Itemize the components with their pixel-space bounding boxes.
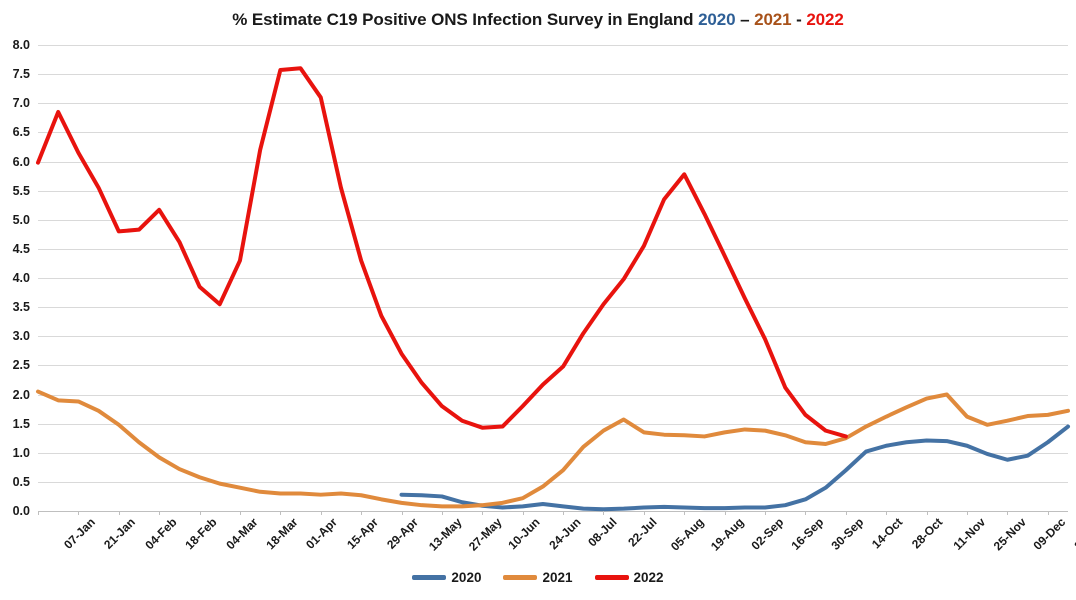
x-axis-tick-label: 25-Nov — [991, 515, 1029, 553]
x-axis-tick-mark — [523, 511, 524, 515]
x-axis-tick-label: 13-May — [425, 515, 464, 554]
y-axis-tick-label: 2.5 — [0, 358, 30, 372]
y-axis-tick-label: 0.5 — [0, 475, 30, 489]
x-axis-tick-label: 18-Mar — [263, 515, 300, 552]
x-axis-tick-mark — [361, 511, 362, 515]
x-axis-tick-mark — [765, 511, 766, 515]
x-axis-tick-label: 23-Dec — [1071, 515, 1076, 553]
x-axis-tick-mark — [321, 511, 322, 515]
y-axis-tick-label: 3.0 — [0, 329, 30, 343]
x-axis-tick-mark — [967, 511, 968, 515]
x-axis-tick-label: 16-Sep — [789, 515, 827, 553]
x-axis-tick-label: 24-Jun — [546, 515, 583, 552]
series-line-2022 — [38, 68, 846, 436]
y-axis-tick-label: 6.5 — [0, 125, 30, 139]
x-axis-tick-label: 30-Sep — [829, 515, 867, 553]
x-axis-tick-mark — [442, 511, 443, 515]
x-axis-tick-label: 09-Dec — [1031, 515, 1069, 553]
x-axis-tick-label: 11-Nov — [950, 515, 988, 553]
legend-swatch-icon — [595, 575, 629, 580]
x-axis-tick-mark — [200, 511, 201, 515]
x-axis-tick-mark — [644, 511, 645, 515]
legend-label: 2022 — [634, 570, 664, 585]
x-axis-tick-mark — [402, 511, 403, 515]
legend-item-2021[interactable]: 2021 — [503, 570, 572, 585]
x-axis-tick-label: 27-May — [466, 515, 505, 554]
x-axis-tick-mark — [1007, 511, 1008, 515]
y-axis-tick-label: 4.5 — [0, 242, 30, 256]
x-axis-tick-label: 04-Feb — [142, 515, 179, 552]
chart-root: % Estimate C19 Positive ONS Infection Su… — [0, 0, 1076, 600]
x-axis-tick-label: 07-Jan — [61, 515, 98, 552]
x-axis-tick-label: 05-Aug — [668, 515, 707, 554]
y-axis-tick-label: 5.5 — [0, 184, 30, 198]
x-axis-labels: 07-Jan21-Jan04-Feb18-Feb04-Mar18-Mar01-A… — [38, 511, 1068, 571]
legend-swatch-icon — [412, 575, 446, 580]
series-lines — [38, 45, 1068, 511]
x-axis-tick-mark — [725, 511, 726, 515]
x-axis-tick-label: 02-Sep — [748, 515, 786, 553]
y-axis-tick-label: 5.0 — [0, 213, 30, 227]
x-axis-tick-mark — [846, 511, 847, 515]
series-line-2020 — [402, 427, 1068, 510]
x-axis-tick-label: 10-Jun — [506, 515, 543, 552]
x-axis-tick-label: 04-Mar — [223, 515, 260, 552]
y-axis-tick-label: 1.5 — [0, 417, 30, 431]
legend-item-2020[interactable]: 2020 — [412, 570, 481, 585]
x-axis-tick-mark — [78, 511, 79, 515]
x-axis-tick-mark — [1048, 511, 1049, 515]
x-axis-tick-label: 14-Oct — [869, 515, 905, 551]
x-axis-tick-label: 18-Feb — [183, 515, 220, 552]
x-axis-tick-mark — [119, 511, 120, 515]
x-axis-tick-mark — [159, 511, 160, 515]
legend-item-2022[interactable]: 2022 — [595, 570, 664, 585]
title-year-2020: 2020 — [698, 10, 735, 29]
chart-legend: 202020212022 — [0, 570, 1076, 585]
x-axis-tick-label: 01-Apr — [303, 515, 340, 552]
y-axis-tick-label: 7.5 — [0, 67, 30, 81]
x-axis-tick-mark — [886, 511, 887, 515]
x-axis-tick-mark — [280, 511, 281, 515]
x-axis-tick-mark — [603, 511, 604, 515]
x-axis-tick-mark — [482, 511, 483, 515]
x-axis-tick-mark — [805, 511, 806, 515]
legend-label: 2021 — [542, 570, 572, 585]
x-axis-tick-label: 21-Jan — [102, 515, 139, 552]
title-year-2021: 2021 — [754, 10, 791, 29]
title-separator-2: - — [792, 10, 807, 29]
y-axis-tick-label: 8.0 — [0, 38, 30, 52]
x-axis-tick-mark — [38, 511, 39, 515]
chart-title: % Estimate C19 Positive ONS Infection Su… — [0, 10, 1076, 30]
legend-swatch-icon — [503, 575, 537, 580]
x-axis-tick-label: 15-Apr — [344, 515, 381, 552]
x-axis-tick-label: 08-Jul — [585, 515, 619, 549]
x-axis-tick-label: 28-Oct — [909, 515, 945, 551]
y-axis-tick-label: 7.0 — [0, 96, 30, 110]
title-separator-1: – — [735, 10, 754, 29]
y-axis-tick-label: 4.0 — [0, 271, 30, 285]
title-year-2022: 2022 — [806, 10, 843, 29]
x-axis-tick-label: 29-Apr — [384, 515, 421, 552]
title-main-text: % Estimate C19 Positive ONS Infection Su… — [232, 10, 698, 29]
y-axis-tick-label: 1.0 — [0, 446, 30, 460]
x-axis-tick-label: 19-Aug — [708, 515, 747, 554]
x-axis-tick-mark — [240, 511, 241, 515]
series-line-2021 — [38, 392, 1068, 507]
x-axis-tick-mark — [563, 511, 564, 515]
x-axis-tick-mark — [927, 511, 928, 515]
x-axis-tick-label: 22-Jul — [626, 515, 660, 549]
y-axis-tick-label: 2.0 — [0, 388, 30, 402]
plot-area — [38, 45, 1068, 511]
y-axis-tick-label: 3.5 — [0, 300, 30, 314]
y-axis-tick-label: 0.0 — [0, 504, 30, 518]
legend-label: 2020 — [451, 570, 481, 585]
y-axis-tick-label: 6.0 — [0, 155, 30, 169]
x-axis-tick-mark — [684, 511, 685, 515]
